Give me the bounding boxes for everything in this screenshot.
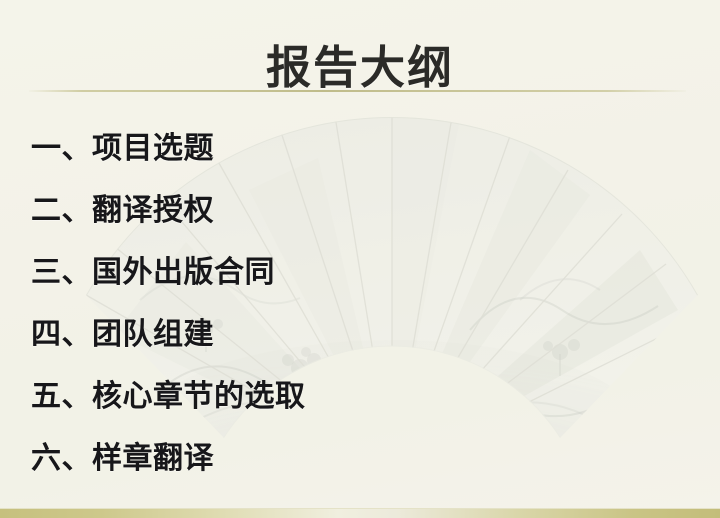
presentation-slide: 报告大纲 一、项目选题 二、翻译授权 三、国外出版合同 四、团队组建 五、核心章… — [0, 0, 720, 518]
list-item: 三、国外出版合同 — [31, 242, 671, 304]
title-divider — [29, 90, 686, 92]
list-item: 一、项目选题 — [31, 118, 671, 180]
title-block: 报告大纲 — [0, 14, 720, 122]
bottom-accent-bar — [0, 509, 720, 518]
list-item: 五、核心章节的选取 — [31, 366, 671, 428]
list-item: 四、团队组建 — [31, 304, 671, 366]
page-title: 报告大纲 — [266, 44, 454, 91]
list-item: 二、翻译授权 — [31, 180, 671, 242]
list-item: 六、样章翻译 — [31, 428, 671, 490]
outline-list: 一、项目选题 二、翻译授权 三、国外出版合同 四、团队组建 五、核心章节的选取 … — [31, 118, 671, 490]
